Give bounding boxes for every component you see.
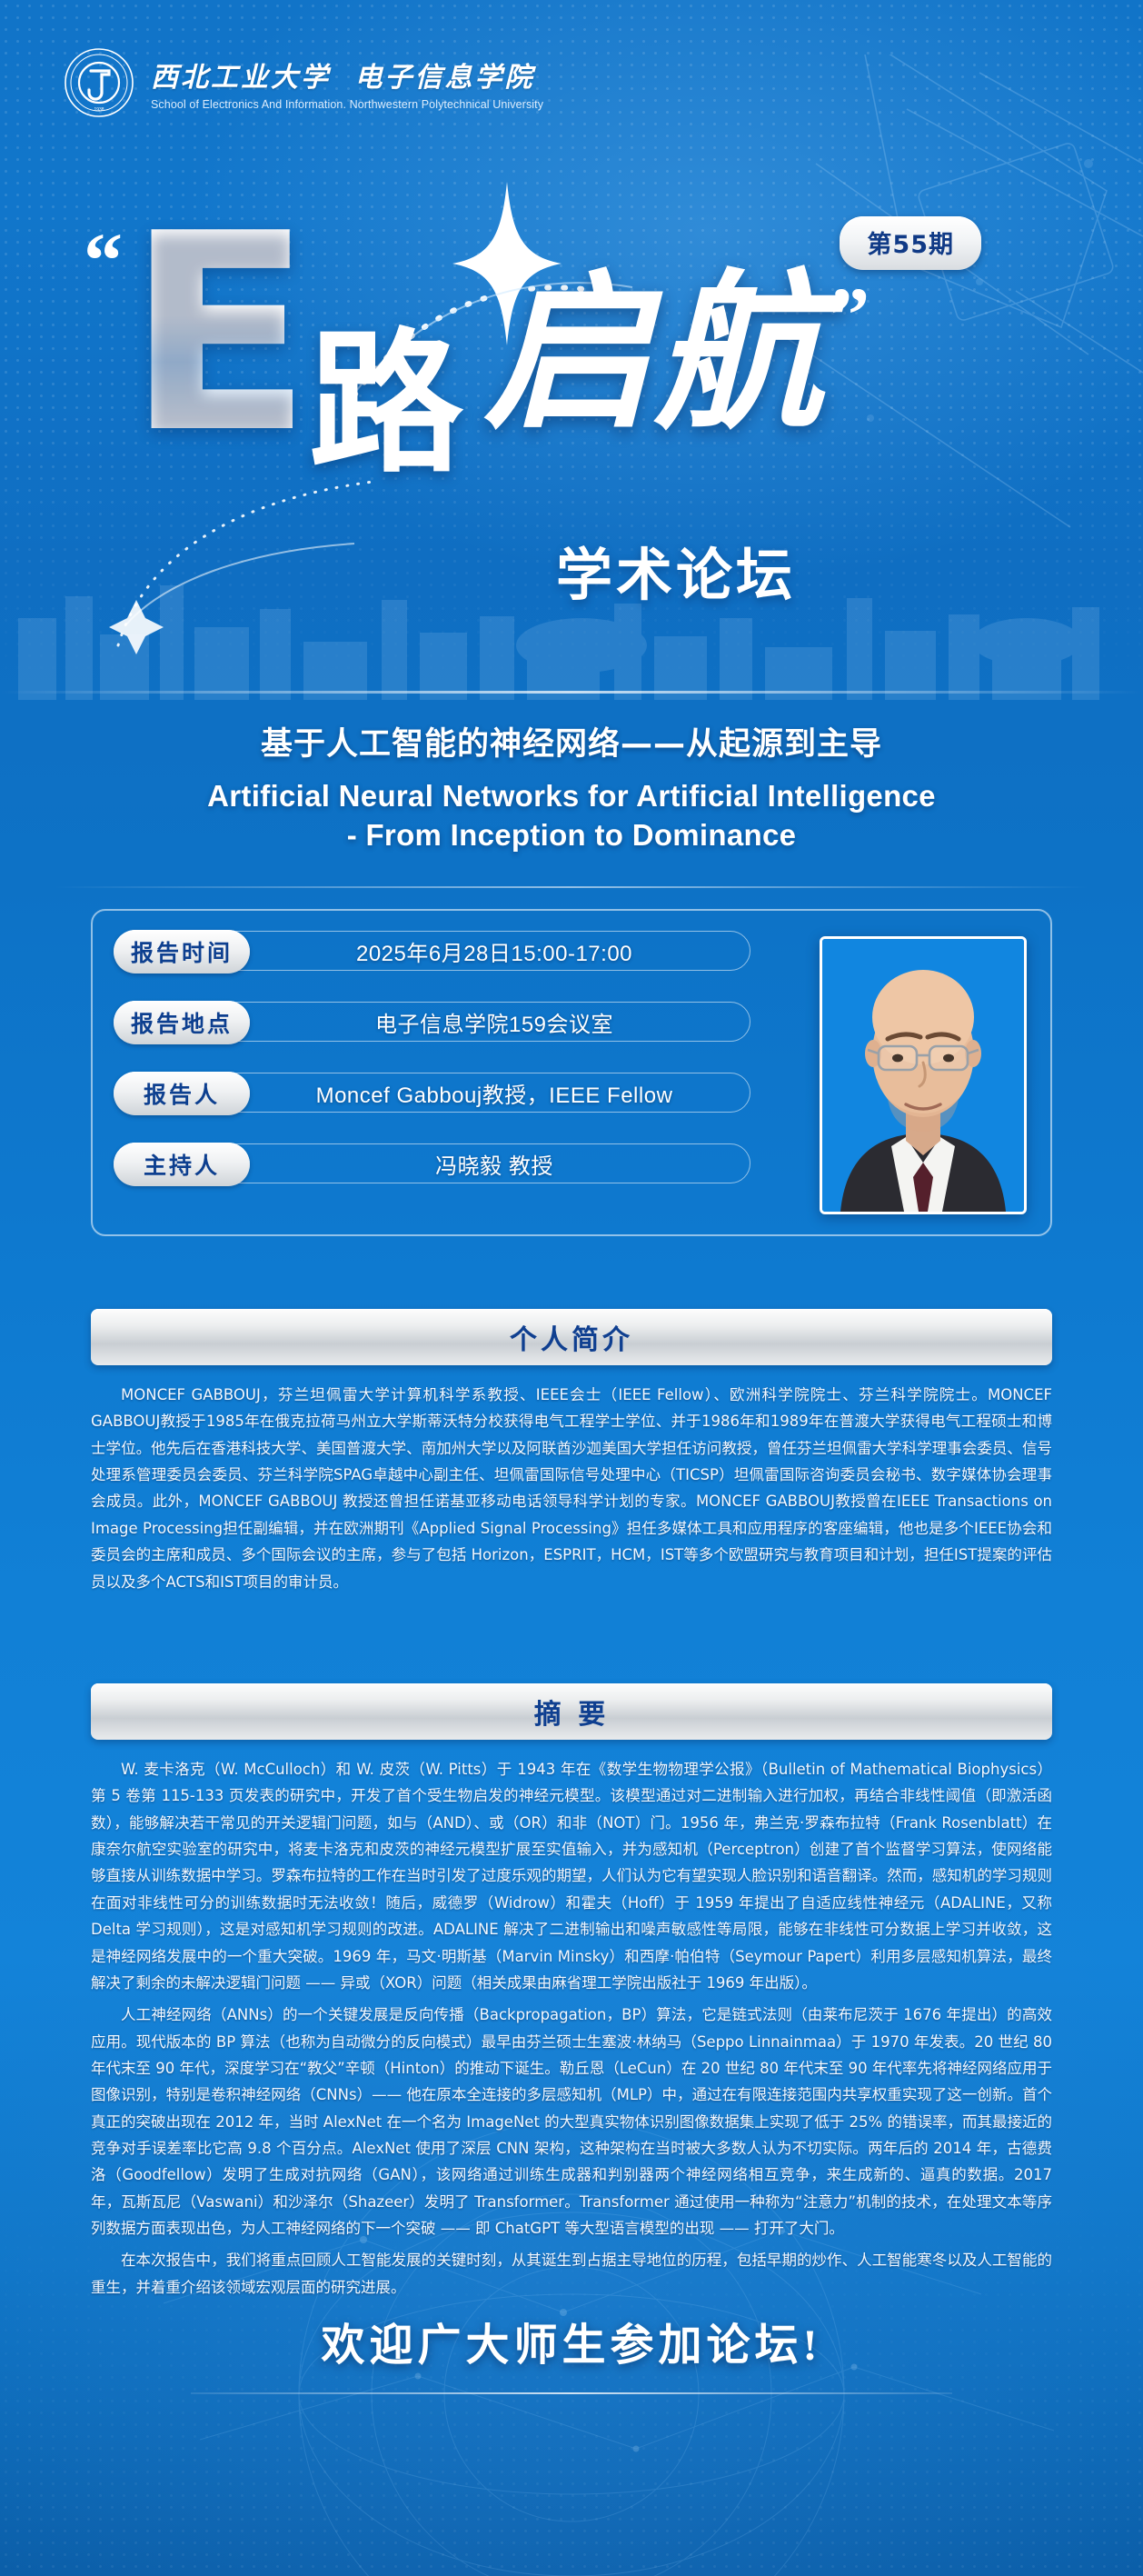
hero-letter-e: E — [126, 220, 313, 449]
info-row-speaker: 报告人 Moncef Gabbouj教授，IEEE Fellow — [114, 1073, 750, 1113]
abstract-paragraph-1: W. 麦卡洛克（W. McCulloch）和 W. 皮茨（W. Pitts）于 … — [91, 1756, 1052, 1996]
section-heading-abstract: 摘 要 — [91, 1683, 1052, 1740]
brand-university-cn: 西北工业大学 — [151, 63, 331, 93]
abstract-text: W. 麦卡洛克（W. McCulloch）和 W. 皮茨（W. Pitts）于 … — [91, 1756, 1052, 2306]
lecture-title-en-line2: - From Inception to Dominance — [0, 816, 1143, 855]
event-info-card: 报告时间 2025年6月28日15:00-17:00 报告地点 电子信息学院15… — [91, 909, 1052, 1236]
lecture-title-block: 基于人工智能的神经网络——从起源到主导 Artificial Neural Ne… — [0, 718, 1143, 855]
speaker-photo — [820, 936, 1027, 1214]
hero-word-qihang: 启航 — [483, 271, 825, 440]
hero-word-lu: 路 — [309, 327, 463, 482]
speaker-portrait-icon — [822, 939, 1024, 1212]
info-row-venue: 报告地点 电子信息学院159会议室 — [114, 1002, 750, 1042]
quote-close-mark: ” — [830, 284, 870, 346]
poster-root: 1938 西北工业大学 电子信息学院 School of Electronics… — [0, 0, 1143, 2576]
lecture-title-en: Artificial Neural Networks for Artificia… — [0, 777, 1143, 855]
hero-title-group: “ E 路 启航 ” — [84, 220, 870, 482]
abstract-paragraph-2: 人工神经网络（ANNs）的一个关键发展是反向传播（Backpropagation… — [91, 2002, 1052, 2242]
info-label-host: 主持人 — [114, 1143, 250, 1186]
forum-subtitle: 学术论坛 — [556, 529, 796, 611]
brand-name-cn: 西北工业大学 电子信息学院 — [151, 55, 543, 95]
info-row-time: 报告时间 2025年6月28日15:00-17:00 — [114, 931, 750, 971]
bio-paragraph-1: MONCEF GABBOUJ，芬兰坦佩雷大学计算机科学系教授、IEEE会士（IE… — [91, 1382, 1052, 1595]
brand-name-en: School of Electronics And Information. N… — [151, 98, 543, 111]
brand-header: 1938 西北工业大学 电子信息学院 School of Electronics… — [64, 47, 543, 118]
info-label-time: 报告时间 — [114, 930, 250, 973]
info-label-venue: 报告地点 — [114, 1001, 250, 1044]
bio-text: MONCEF GABBOUJ，芬兰坦佩雷大学计算机科学系教授、IEEE会士（IE… — [91, 1382, 1052, 1601]
welcome-divider — [191, 2392, 952, 2394]
university-seal-icon: 1938 — [64, 47, 134, 118]
abstract-paragraph-3: 在本次报告中，我们将重点回顾人工智能发展的关键时刻，从其诞生到占据主导地位的历程… — [91, 2247, 1052, 2301]
lecture-title-en-line1: Artificial Neural Networks for Artificia… — [0, 777, 1143, 816]
hero-divider — [0, 691, 1143, 694]
section-heading-bio: 个人简介 — [91, 1309, 1052, 1365]
svg-text:1938: 1938 — [94, 107, 104, 113]
title-divider — [55, 886, 1088, 888]
info-label-speaker: 报告人 — [114, 1072, 250, 1115]
quote-open-mark: “ — [84, 229, 123, 292]
info-row-host: 主持人 冯晓毅 教授 — [114, 1143, 750, 1183]
lecture-title-cn: 基于人工智能的神经网络——从起源到主导 — [0, 718, 1143, 764]
brand-school-cn: 电子信息学院 — [355, 63, 535, 93]
welcome-message: 欢迎广大师生参加论坛! — [0, 2309, 1143, 2372]
hero-banner: 第55期 “ E 路 启航 ” 学术论坛 — [0, 173, 1143, 682]
event-info-rows: 报告时间 2025年6月28日15:00-17:00 报告地点 电子信息学院15… — [114, 931, 750, 1183]
